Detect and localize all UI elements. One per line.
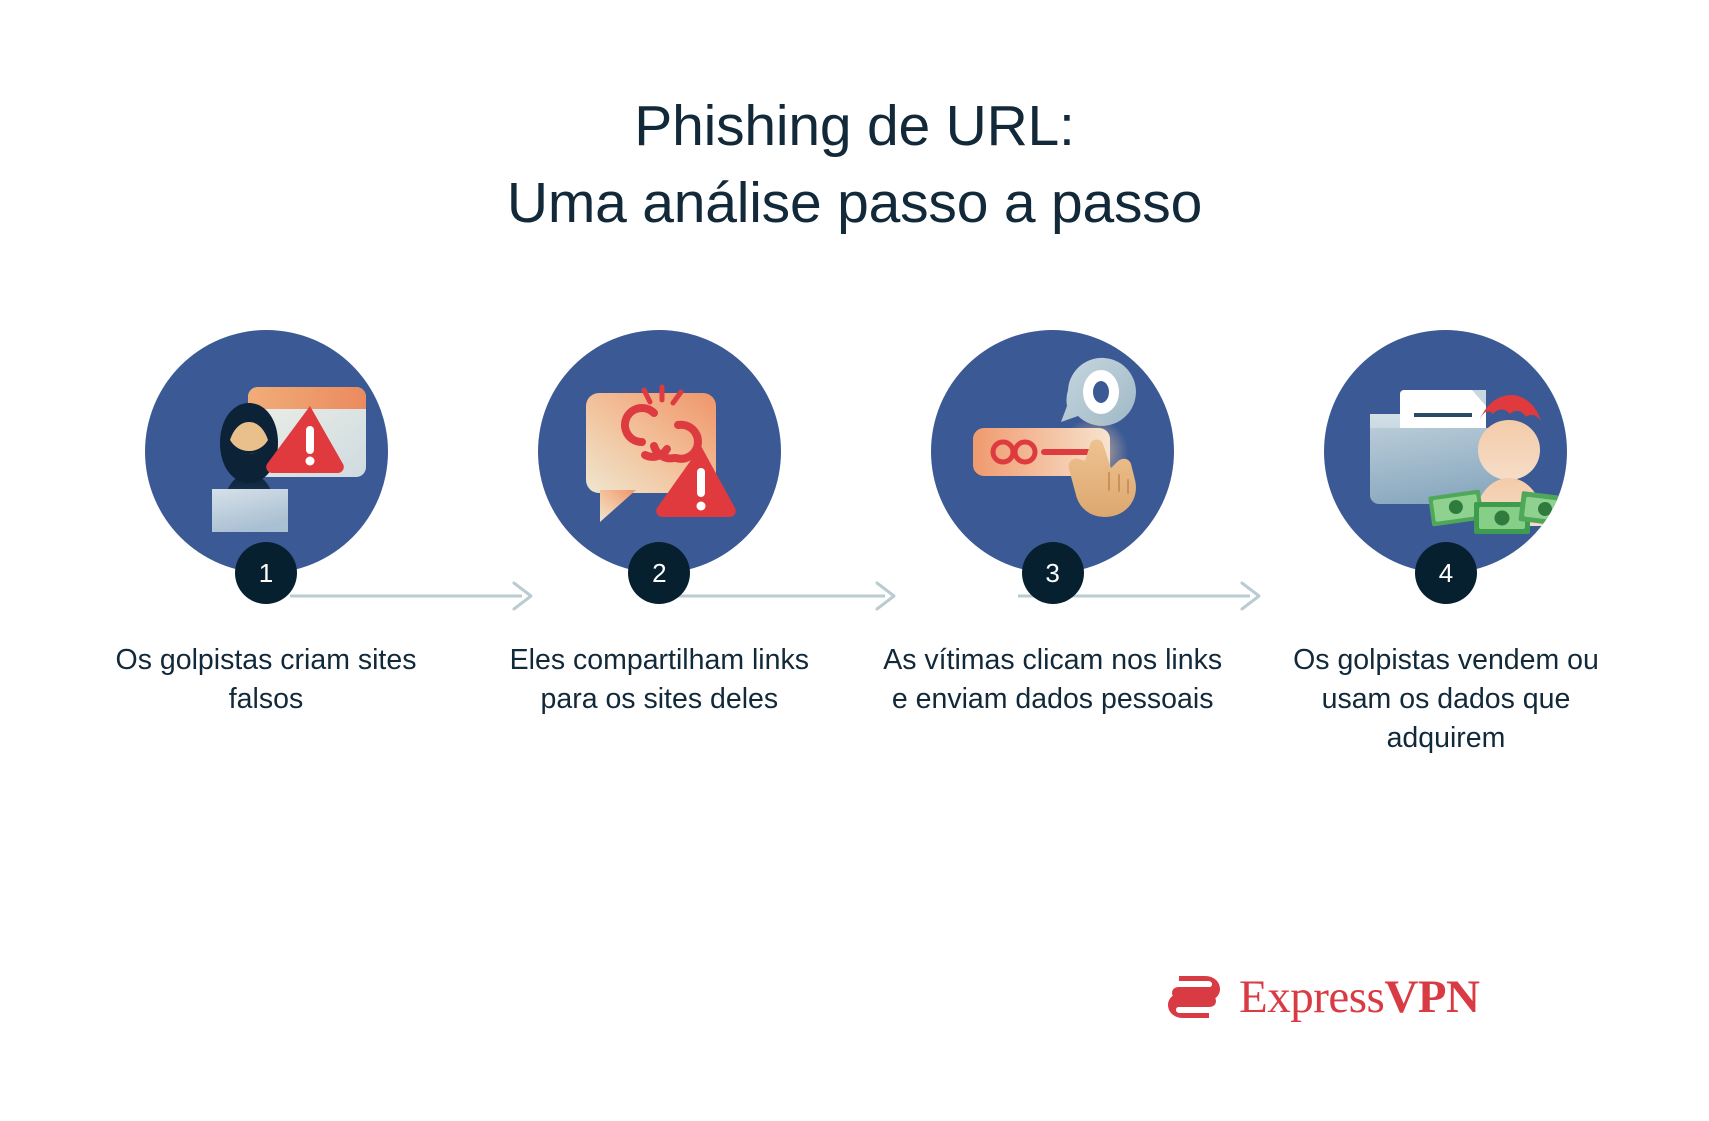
step-badge-2: 2 (628, 542, 690, 604)
step-circle-2: 2 (538, 330, 781, 573)
step-item-2: 2 Eles compartilham links para os sites … (479, 330, 839, 719)
logo-word-vpn: VPN (1384, 971, 1479, 1023)
step-badge-3: 3 (1022, 542, 1084, 604)
step-item-1: 1 Os golpistas criam sites falsos (86, 330, 446, 719)
step-circle-1: 1 (145, 330, 388, 573)
step-circle-4: 4 (1324, 330, 1567, 573)
page-title-line-1: Phishing de URL: (0, 88, 1709, 165)
step-circle-3: 3 (931, 330, 1174, 573)
page-title-line-2: Uma análise passo a passo (0, 165, 1709, 242)
expressvpn-logo: ExpressVPN (1163, 966, 1479, 1028)
step-item-4: 4 Os golpistas vendem ou usam os dados q… (1266, 330, 1626, 758)
expressvpn-wordmark: ExpressVPN (1239, 974, 1479, 1021)
step-item-3: 3 As vítimas clicam nos links e enviam d… (873, 330, 1233, 719)
url-bar-click-eye-icon (931, 330, 1174, 573)
step-caption-2: Eles compartilham links para os sites de… (479, 641, 839, 719)
logo-word-express: Express (1239, 971, 1384, 1023)
expressvpn-e-mark-icon (1163, 966, 1225, 1028)
step-caption-3: As vítimas clicam nos links e enviam dad… (873, 641, 1233, 719)
page-title: Phishing de URL: Uma análise passo a pas… (0, 88, 1709, 242)
folder-data-money-icon (1324, 330, 1567, 573)
hacker-laptop-warning-icon (145, 330, 388, 573)
steps-row: 1 Os golpistas criam sites falsos (86, 330, 1626, 758)
step-badge-1: 1 (235, 542, 297, 604)
message-broken-link-warning-icon (538, 330, 781, 573)
step-caption-1: Os golpistas criam sites falsos (86, 641, 446, 719)
step-caption-4: Os golpistas vendem ou usam os dados que… (1266, 641, 1626, 758)
step-badge-4: 4 (1415, 542, 1477, 604)
